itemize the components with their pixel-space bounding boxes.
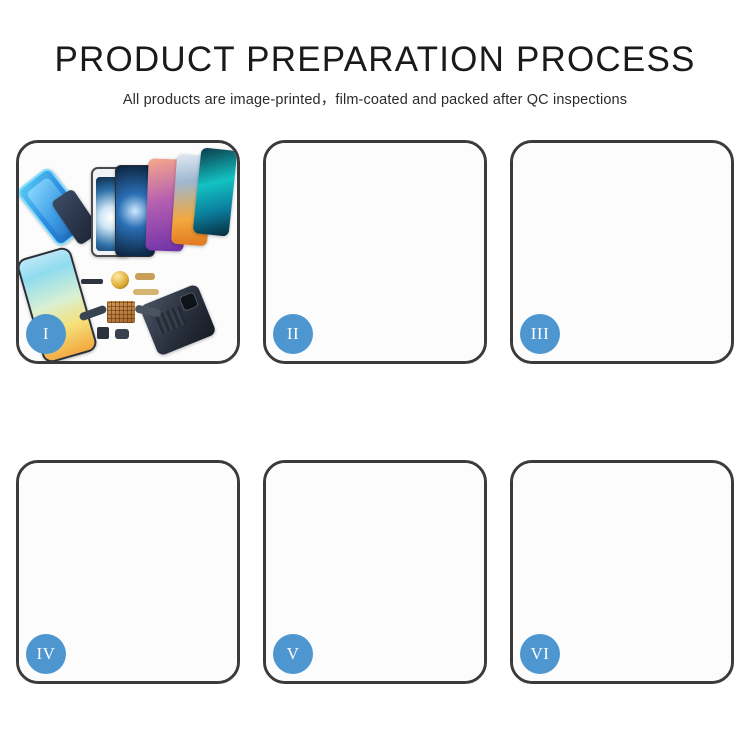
panel-badge-1: I — [26, 314, 66, 354]
process-panel-6: VI — [510, 460, 734, 684]
page-title: PRODUCT PREPARATION PROCESS — [0, 40, 750, 79]
stacked-box — [19, 575, 167, 595]
process-panel-grid: I II — [16, 140, 734, 702]
gold-strip-two-icon — [133, 289, 159, 295]
process-panel-5: V — [263, 460, 487, 684]
stacked-box — [19, 555, 167, 575]
panel-badge-6: VI — [520, 634, 560, 674]
process-panel-1: I — [16, 140, 240, 364]
process-panel-2: II — [263, 140, 487, 364]
process-panel-4: Mobile Phone Spare Parts Mobile Phone Sp… — [16, 460, 240, 684]
teal-display-icon — [193, 147, 237, 236]
stacked-box — [19, 517, 147, 535]
gold-strip-icon — [135, 273, 155, 280]
panel-badge-5: V — [273, 634, 313, 674]
stacked-box — [19, 481, 147, 499]
page-root: PRODUCT PREPARATION PROCESS All products… — [0, 0, 750, 750]
chip-part-icon — [97, 327, 109, 339]
speaker-part-icon — [111, 271, 129, 289]
panel-badge-3: III — [520, 314, 560, 354]
stacked-box — [19, 535, 147, 555]
connector-strip-icon — [81, 279, 103, 284]
process-panel-3: III — [510, 140, 734, 364]
header: PRODUCT PREPARATION PROCESS All products… — [0, 40, 750, 109]
stacked-box — [19, 595, 167, 615]
panel-badge-2: II — [273, 314, 313, 354]
module-part-icon — [115, 329, 129, 339]
panel-badge-4: IV — [26, 634, 66, 674]
stacked-box — [19, 499, 147, 517]
stacked-box — [19, 463, 147, 481]
copper-grid-part-icon — [107, 301, 135, 323]
page-subtitle: All products are image-printed，film-coat… — [0, 88, 750, 109]
